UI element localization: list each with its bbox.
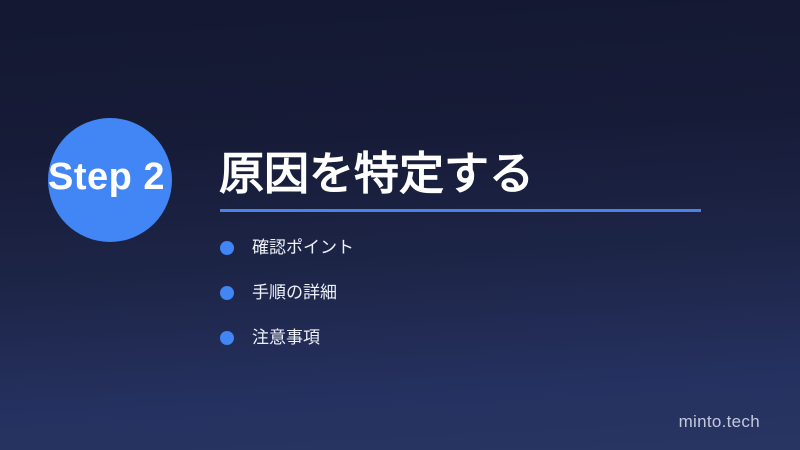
page-title: 原因を特定する	[219, 146, 534, 202]
brand-watermark: minto.tech	[679, 412, 760, 432]
title-divider	[220, 209, 701, 212]
bullet-dot-icon	[220, 286, 234, 300]
slide-canvas: Step 2 原因を特定する 確認ポイント 手順の詳細 注意事項 minto.t…	[0, 0, 800, 450]
list-item: 確認ポイント	[220, 234, 680, 262]
bullet-dot-icon	[220, 331, 234, 345]
bullet-dot-icon	[220, 241, 234, 255]
list-item: 手順の詳細	[220, 279, 680, 307]
list-item: 注意事項	[220, 324, 680, 352]
step-badge-label: Step 2	[48, 152, 200, 202]
bullet-list: 確認ポイント 手順の詳細 注意事項	[220, 234, 680, 369]
list-item-label: 手順の詳細	[252, 279, 337, 307]
list-item-label: 注意事項	[252, 324, 320, 352]
list-item-label: 確認ポイント	[252, 234, 354, 262]
